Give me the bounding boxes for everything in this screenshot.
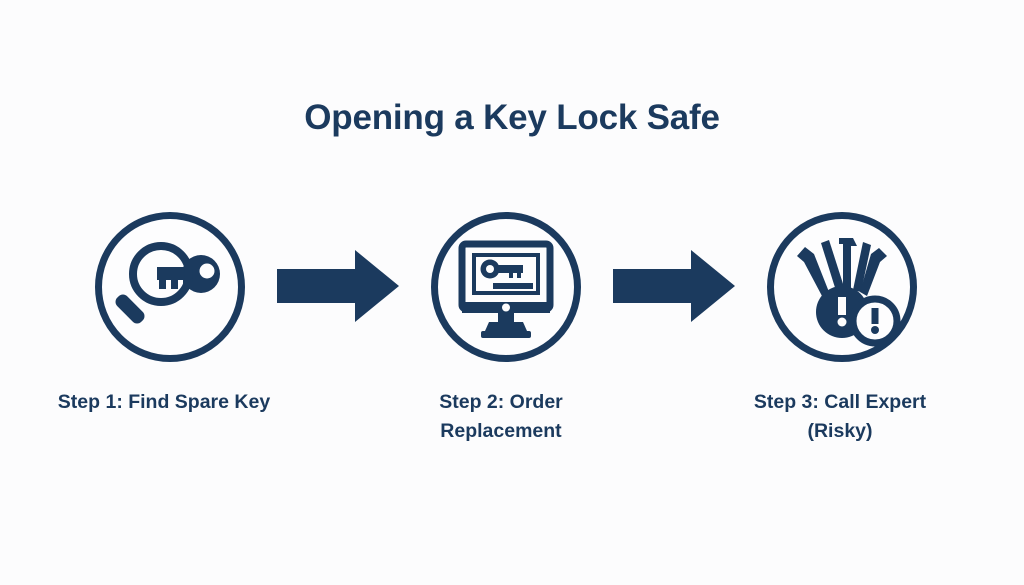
magnifier-key-icon [95,212,245,362]
step-3-label-line-1: Step 3: Call Expert [710,388,970,417]
step-1-label: Step 1: Find Spare Key [34,388,294,417]
step-2-label-line-2: Replacement [371,417,631,446]
step-2-label: Step 2: Order Replacement [371,388,631,446]
right-arrow-icon [613,250,735,322]
monitor-key-order-icon [431,212,581,362]
lockpick-warning-icon [767,212,917,362]
step-3-label-line-2: (Risky) [710,417,970,446]
infographic-canvas: Opening a Key Lock Safe [0,0,1024,585]
step-2-icon-group[interactable] [426,208,586,368]
step-1-label-line-1: Step 1: Find Spare Key [34,388,294,417]
step-3-label: Step 3: Call Expert (Risky) [710,388,970,446]
page-title: Opening a Key Lock Safe [0,98,1024,138]
right-arrow-icon [277,250,399,322]
step-1-icon-group[interactable] [90,208,250,368]
steps-row [0,208,1024,368]
step-3-icon-group[interactable] [762,208,922,368]
step-2-label-line-1: Step 2: Order [371,388,631,417]
